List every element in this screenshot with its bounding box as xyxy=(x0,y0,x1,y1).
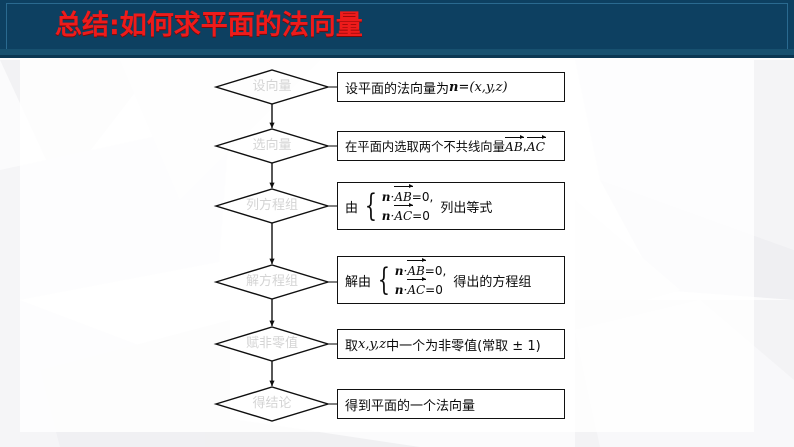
box-set-vector: 设平面的法向量为n=(x,y,z) xyxy=(337,72,565,102)
title-bar-accent-strip-dark xyxy=(0,55,794,58)
diamond-assign-nonzero xyxy=(216,327,328,361)
diamond-choose-vectors xyxy=(216,129,328,163)
diamond-build-equations xyxy=(216,189,328,223)
diamond-set-vector xyxy=(216,70,328,104)
box-choose-vectors: 在平面内选取两个不共线向量AB,AC xyxy=(337,131,565,161)
diamond-solve-equations xyxy=(216,265,328,299)
box-assign-nonzero: 取x,y,z中一个为非零值(常取 ± 1) xyxy=(337,329,565,359)
vector-ab-1: AB xyxy=(505,138,523,154)
box-prefix-build-equations: 由 xyxy=(345,197,358,216)
box-prefix-solve-equations: 解由 xyxy=(345,271,371,290)
equation-system-solve: { n·AB=0, n·AC=0 xyxy=(374,261,446,299)
equation-line-3: n·AB=0, xyxy=(395,261,447,280)
box-text-set-vector-cn: 设平面的法向量为 xyxy=(345,78,449,97)
box-text-choose-vectors-cn: 在平面内选取两个不共线向量 xyxy=(345,137,505,155)
box-suffix-solve-equations: 得出的方程组 xyxy=(453,271,531,290)
box-solve-equations: 解由 { n·AB=0, n·AC=0 得出的方程组 xyxy=(337,256,565,304)
vector-ac-1: AC xyxy=(527,138,545,154)
equation-lines-solve: n·AB=0, n·AC=0 xyxy=(395,261,447,299)
equation-line-4: n·AC=0 xyxy=(395,280,447,299)
box-text-conclusion: 得到平面的一个法向量 xyxy=(345,395,475,414)
box-text-set-vector-n: n xyxy=(449,80,458,95)
box-text-set-vector-coords: (x,y,z) xyxy=(469,80,507,95)
page-title: 总结:如何求平面的法向量 xyxy=(55,6,363,46)
box-text-set-vector-eq: = xyxy=(458,80,469,95)
equation-system-build: { n·AB=0, n·AC=0 xyxy=(361,187,433,225)
left-brace-icon: { xyxy=(365,194,377,219)
box-suffix-build-equations: 列出等式 xyxy=(440,197,492,216)
box-build-equations: 由 { n·AB=0, n·AC=0 列出等式 xyxy=(337,182,565,230)
box-text-assign-vars: x,y,z xyxy=(358,337,386,352)
diamond-conclusion xyxy=(216,387,328,421)
box-conclusion: 得到平面的一个法向量 xyxy=(337,389,565,419)
equation-line-2: n·AC=0 xyxy=(382,206,434,225)
box-text-assign-prefix: 取 xyxy=(345,335,358,354)
box-text-assign-suffix: 中一个为非零值(常取 ± 1) xyxy=(386,335,541,354)
slide-canvas: 总结:如何求平面的法向量 xyxy=(0,0,794,447)
left-brace-icon-2: { xyxy=(378,268,390,293)
equation-lines-build: n·AB=0, n·AC=0 xyxy=(382,187,434,225)
equation-line-1: n·AB=0, xyxy=(382,187,434,206)
